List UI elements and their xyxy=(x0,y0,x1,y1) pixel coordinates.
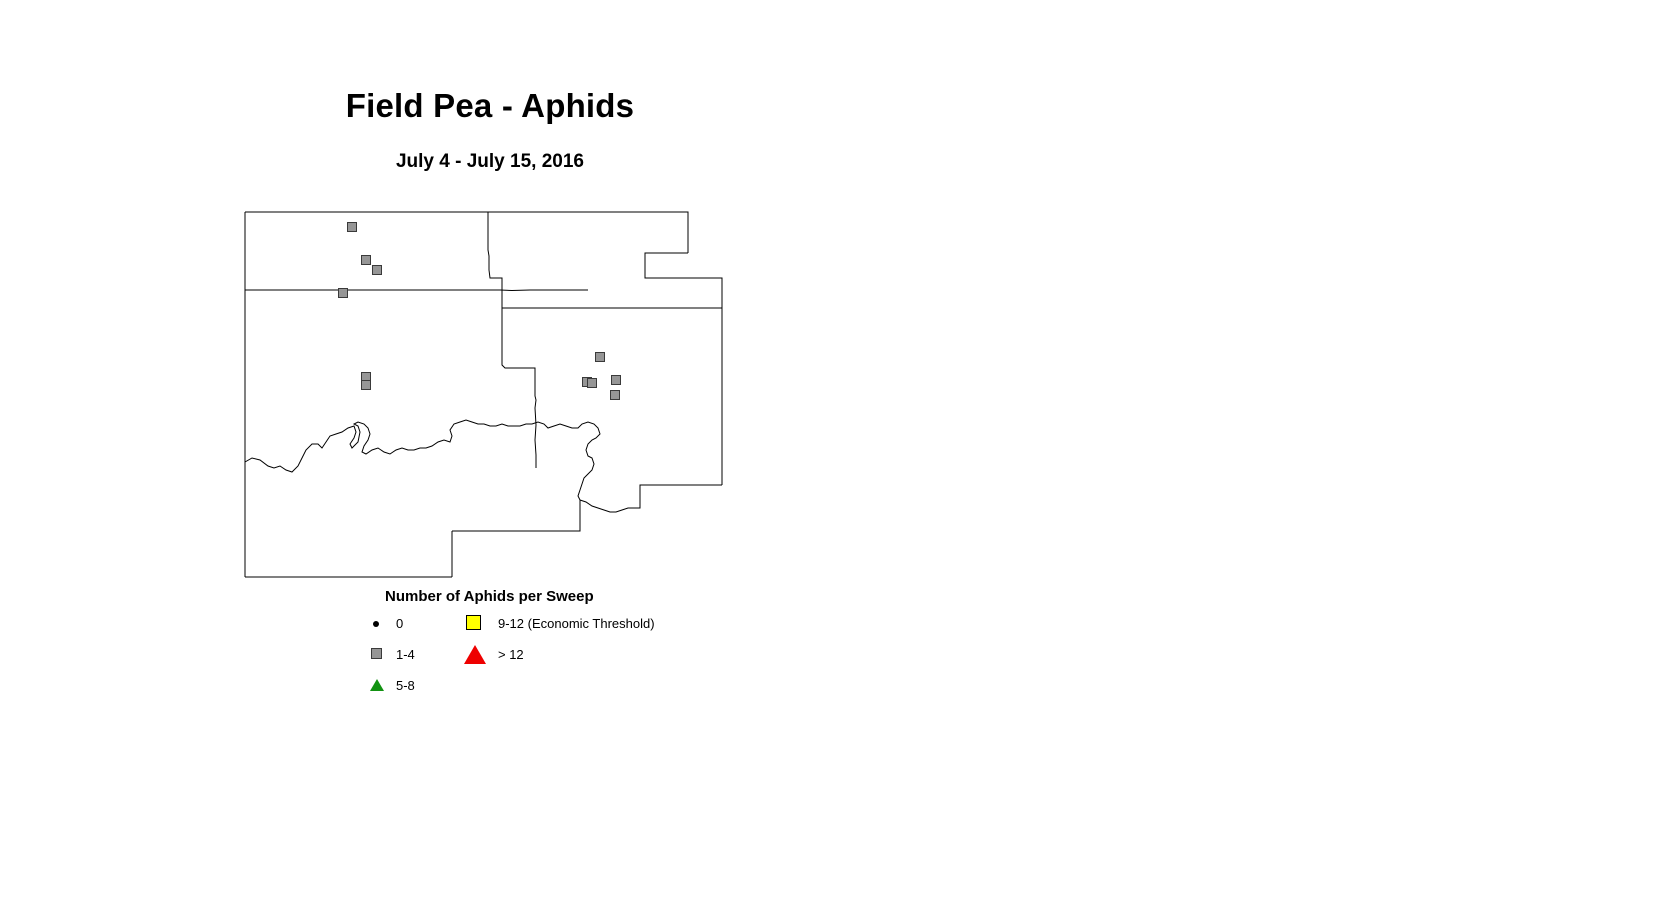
boundary-river-line xyxy=(245,420,600,500)
map-data-point[interactable] xyxy=(612,376,621,385)
map-data-point[interactable] xyxy=(362,256,371,265)
legend-swatch-gray-square-icon xyxy=(368,645,390,665)
boundary-north-edge xyxy=(245,212,688,253)
legend-title: Number of Aphids per Sweep xyxy=(385,588,594,605)
map-data-point[interactable] xyxy=(339,289,348,298)
boundary-northeast-step xyxy=(645,253,722,308)
data-point-layer xyxy=(339,223,621,400)
map-data-point[interactable] xyxy=(596,353,605,362)
legend-swatch-red-triangle-icon xyxy=(464,645,486,665)
legend-label-0: 0 xyxy=(396,616,403,632)
legend-swatch-yellow-square-icon xyxy=(464,614,486,634)
map-data-point[interactable] xyxy=(362,381,371,390)
map-data-point[interactable] xyxy=(373,266,382,275)
legend-swatch-green-triangle-icon xyxy=(368,676,390,696)
boundary-north-central-vertical xyxy=(488,212,502,308)
page-subtitle: July 4 - July 15, 2016 xyxy=(0,150,980,174)
map-figure: Field Pea - Aphids July 4 - July 15, 201… xyxy=(0,0,1673,900)
legend-label-1-4: 1-4 xyxy=(396,647,415,663)
county-boundaries xyxy=(245,212,722,577)
legend-label-5-8: 5-8 xyxy=(396,678,415,694)
page-title: Field Pea - Aphids xyxy=(0,86,980,126)
legend-swatch-dot-icon xyxy=(368,614,390,634)
boundary-nw-sw-divider xyxy=(245,290,588,291)
legend-label-over-12: > 12 xyxy=(498,647,524,663)
legend-label-9-12: 9-12 (Economic Threshold) xyxy=(498,616,655,632)
map-canvas xyxy=(230,200,750,600)
map-legend: Number of Aphids per Sweep 0 1-4 5-8 xyxy=(360,588,790,708)
title-block: Field Pea - Aphids July 4 - July 15, 201… xyxy=(0,86,980,126)
boundary-south-step xyxy=(452,500,580,531)
boundary-central-vertical xyxy=(502,308,536,468)
map-data-point[interactable] xyxy=(348,223,357,232)
boundary-southeast-step xyxy=(580,485,722,512)
map-data-point[interactable] xyxy=(588,379,597,388)
map-data-point[interactable] xyxy=(611,391,620,400)
region-map xyxy=(230,200,750,600)
